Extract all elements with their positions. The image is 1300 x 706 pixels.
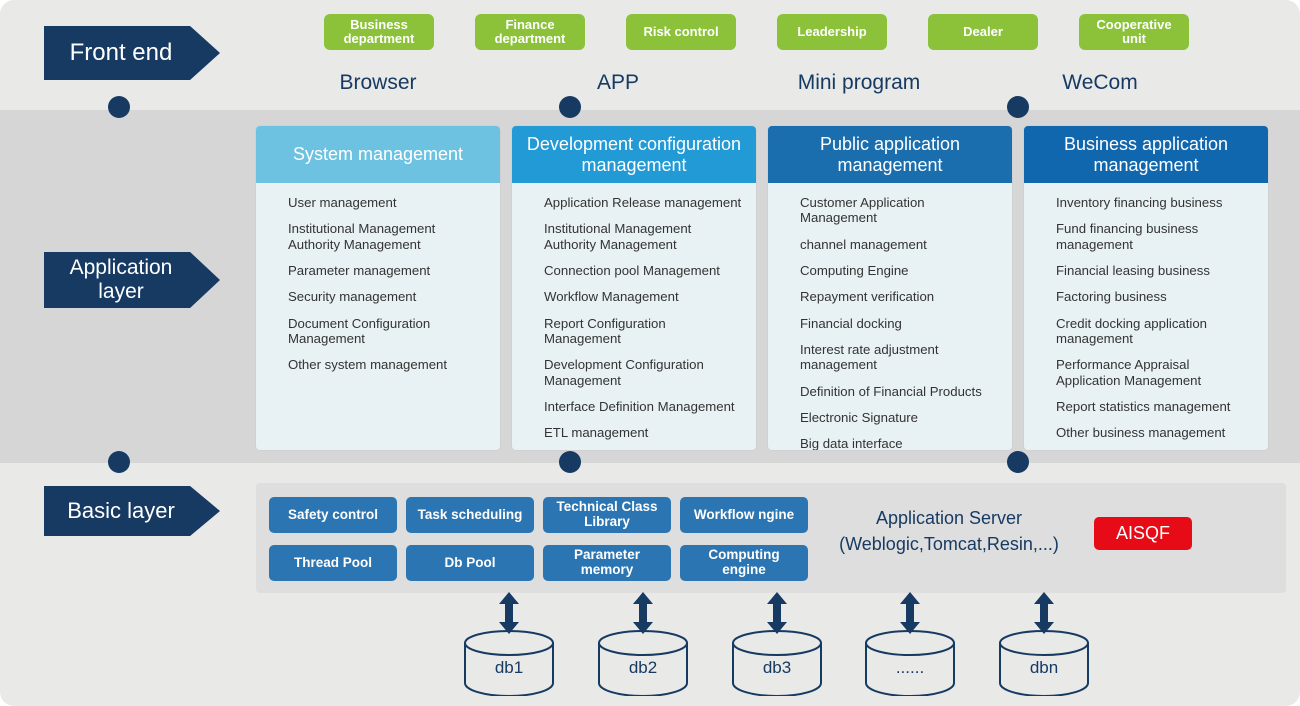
basic-layer-banner-label: Basic layer <box>67 499 175 524</box>
connector-dot-top <box>559 96 581 118</box>
db-bidirectional-arrow <box>1032 592 1056 634</box>
basic-layer-tile-label: Thread Pool <box>294 556 372 571</box>
db-bidirectional-arrow <box>898 592 922 634</box>
connector-dot-bottom <box>559 451 581 473</box>
database-cylinder: db3 <box>731 630 823 696</box>
basic-layer-tile-label: Parameter memory <box>548 548 666 578</box>
application-column-item[interactable]: Big data interface <box>768 436 1012 450</box>
connector-dot-bottom <box>108 451 130 473</box>
application-column-item[interactable]: Inventory financing business <box>1024 195 1268 210</box>
connector-dot-bottom <box>1007 451 1029 473</box>
front-end-chip-label: Risk control <box>643 25 718 39</box>
application-column-body: Customer Application Managementchannel m… <box>768 183 1012 450</box>
front-end-channel-label: WeCom <box>990 71 1210 95</box>
database-label: db2 <box>597 630 689 696</box>
database-label: db3 <box>731 630 823 696</box>
application-column-item[interactable]: Fund financing business management <box>1024 221 1268 252</box>
application-column-item[interactable]: ETL management <box>512 425 756 440</box>
application-column-header[interactable]: Development configuration management <box>512 126 756 183</box>
application-column-item[interactable]: Financial docking <box>768 316 1012 331</box>
database-cylinder: ...... <box>864 630 956 696</box>
front-end-chip[interactable]: Leadership <box>777 14 887 50</box>
application-column-item[interactable]: Computing Engine <box>768 263 1012 278</box>
front-end-channel-label: Mini program <box>749 71 969 95</box>
database-label: dbn <box>998 630 1090 696</box>
application-column-header[interactable]: Public application management <box>768 126 1012 183</box>
application-column: System managementUser managementInstitut… <box>256 126 500 450</box>
front-end-chip-label: Dealer <box>963 25 1003 39</box>
application-column-item[interactable]: Repayment verification <box>768 289 1012 304</box>
aisqf-badge: AISQF <box>1094 517 1192 550</box>
application-column-item[interactable]: Factoring business <box>1024 289 1268 304</box>
application-column-header[interactable]: System management <box>256 126 500 183</box>
application-column-item[interactable]: Credit docking application management <box>1024 316 1268 347</box>
database-cylinder: db1 <box>463 630 555 696</box>
database-label: ...... <box>864 630 956 696</box>
front-end-chip[interactable]: Finance department <box>475 14 585 50</box>
database-cylinder: dbn <box>998 630 1090 696</box>
application-column-item[interactable]: Security management <box>256 289 500 304</box>
application-column-item[interactable]: Other business management <box>1024 425 1268 440</box>
application-column-item[interactable]: Document Configuration Management <box>256 316 500 347</box>
front-end-channel-label: APP <box>508 71 728 95</box>
application-server-caption: Application Server (Weblogic,Tomcat,Resi… <box>824 505 1074 557</box>
application-column: Business application managementInventory… <box>1024 126 1268 450</box>
application-column-item[interactable]: Institutional Management Authority Manag… <box>512 221 756 252</box>
front-end-banner-label: Front end <box>70 40 173 67</box>
front-end-chip-label: Finance department <box>483 18 577 46</box>
basic-layer-tile[interactable]: Parameter memory <box>543 545 671 581</box>
application-column-item[interactable]: Workflow Management <box>512 289 756 304</box>
application-column-item[interactable]: Performance Appraisal Application Manage… <box>1024 357 1268 388</box>
front-end-channel-label: Browser <box>268 71 488 95</box>
basic-layer-tile[interactable]: Task scheduling <box>406 497 534 533</box>
application-column-item[interactable]: Interface Definition Management <box>512 399 756 414</box>
application-column: Public application managementCustomer Ap… <box>768 126 1012 450</box>
database-label: db1 <box>463 630 555 696</box>
front-end-chip[interactable]: Business department <box>324 14 434 50</box>
application-server-line-1: Application Server <box>824 505 1074 531</box>
front-end-chip-label: Leadership <box>797 25 866 39</box>
basic-layer-tile-label: Task scheduling <box>418 508 523 523</box>
application-column-item[interactable]: Report Configuration Management <box>512 316 756 347</box>
database-cylinder: db2 <box>597 630 689 696</box>
basic-layer-tile-label: Computing engine <box>685 548 803 578</box>
application-column-item[interactable]: channel management <box>768 237 1012 252</box>
basic-layer-tile-label: Db Pool <box>445 556 496 571</box>
basic-layer-tile-label: Technical Class Library <box>548 500 666 530</box>
application-column-item[interactable]: Financial leasing business <box>1024 263 1268 278</box>
front-end-banner: Front end <box>44 26 220 80</box>
architecture-diagram: Front end Application layer Basic layer … <box>0 0 1300 706</box>
front-end-chip[interactable]: Cooperative unit <box>1079 14 1189 50</box>
application-column-item[interactable]: Report statistics management <box>1024 399 1268 414</box>
basic-layer-tile[interactable]: Workflow ngine <box>680 497 808 533</box>
front-end-chip-label: Cooperative unit <box>1087 18 1181 46</box>
connector-dot-top <box>108 96 130 118</box>
application-column-item[interactable]: Electronic Signature <box>768 410 1012 425</box>
application-column-item[interactable]: Other system management <box>256 357 500 372</box>
application-layer-banner: Application layer <box>44 252 220 308</box>
application-column-item[interactable]: Application Release management <box>512 195 756 210</box>
aisqf-badge-label: AISQF <box>1116 523 1170 544</box>
application-column-body: User managementInstitutional Management … <box>256 183 500 373</box>
front-end-chip[interactable]: Dealer <box>928 14 1038 50</box>
application-column-item[interactable]: Interest rate adjustment management <box>768 342 1012 373</box>
basic-layer-banner: Basic layer <box>44 486 220 536</box>
application-column-item[interactable]: Definition of Financial Products <box>768 384 1012 399</box>
application-server-line-2: (Weblogic,Tomcat,Resin,...) <box>824 531 1074 557</box>
application-column-item[interactable]: Development Configuration Management <box>512 357 756 388</box>
basic-layer-tile[interactable]: Thread Pool <box>269 545 397 581</box>
basic-layer-tile-label: Safety control <box>288 508 378 523</box>
basic-layer-tile[interactable]: Technical Class Library <box>543 497 671 533</box>
application-column-item[interactable]: Connection pool Management <box>512 263 756 278</box>
basic-layer-tile[interactable]: Computing engine <box>680 545 808 581</box>
front-end-chip-label: Business department <box>332 18 426 46</box>
front-end-chip[interactable]: Risk control <box>626 14 736 50</box>
application-column-item[interactable]: Parameter management <box>256 263 500 278</box>
application-column-body: Inventory financing businessFund financi… <box>1024 183 1268 440</box>
db-bidirectional-arrow <box>631 592 655 634</box>
application-column-item[interactable]: User management <box>256 195 500 210</box>
basic-layer-tile[interactable]: Safety control <box>269 497 397 533</box>
application-layer-banner-label: Application layer <box>44 256 198 303</box>
application-column-item[interactable]: Institutional Management Authority Manag… <box>256 221 500 252</box>
connector-dot-top <box>1007 96 1029 118</box>
db-bidirectional-arrow <box>765 592 789 634</box>
application-column-body: Application Release managementInstitutio… <box>512 183 756 450</box>
db-bidirectional-arrow <box>497 592 521 634</box>
application-column-header[interactable]: Business application management <box>1024 126 1268 183</box>
basic-layer-tile-label: Workflow ngine <box>694 508 794 523</box>
basic-layer-tile[interactable]: Db Pool <box>406 545 534 581</box>
application-column: Development configuration managementAppl… <box>512 126 756 450</box>
application-column-item[interactable]: Customer Application Management <box>768 195 1012 226</box>
